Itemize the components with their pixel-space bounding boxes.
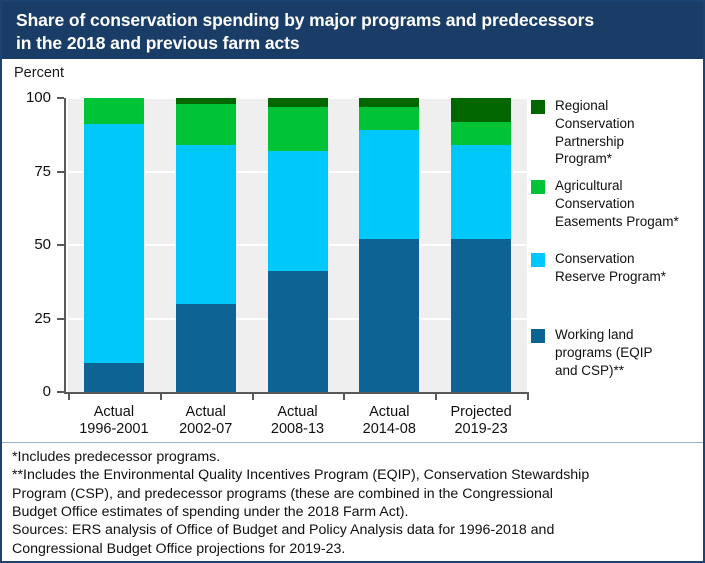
bar-segment — [84, 98, 144, 124]
legend-swatch-icon — [531, 329, 545, 343]
bar-segment — [359, 239, 419, 392]
x-axis-line — [64, 392, 529, 394]
x-tick-label: Actual 2008-13 — [252, 404, 344, 438]
x-tick-mark — [343, 392, 345, 400]
x-tick-label: Actual 1996-2001 — [68, 404, 160, 438]
y-tick-label: 0 — [2, 383, 51, 400]
bar-segment — [176, 98, 236, 104]
y-tick-mark — [57, 244, 64, 246]
y-axis-unit-label: Percent — [14, 65, 64, 81]
chart-title-band: Share of conservation spending by major … — [2, 2, 703, 59]
bar-segment — [359, 107, 419, 131]
y-tick-mark — [57, 171, 64, 173]
legend-label: Regional Conservation Partnership Progra… — [555, 97, 705, 168]
y-tick-mark — [57, 391, 64, 393]
bar-stack — [84, 98, 144, 392]
bar-segment — [451, 98, 511, 122]
x-tick-mark — [160, 392, 162, 400]
bar-segment — [176, 104, 236, 145]
bar-segment — [268, 271, 328, 392]
bar-segment — [176, 304, 236, 392]
bar-segment — [359, 98, 419, 107]
page-title: Share of conservation spending by major … — [16, 9, 693, 55]
note-line: *Includes predecessor programs. — [12, 448, 693, 466]
bar-segment — [176, 145, 236, 304]
bar-segment — [84, 363, 144, 392]
bar-segment — [451, 145, 511, 239]
y-tick-label: 75 — [2, 163, 51, 180]
x-tick-mark — [252, 392, 254, 400]
bar-segment — [451, 239, 511, 392]
legend-swatch-icon — [531, 180, 545, 194]
bar-segment — [451, 122, 511, 146]
x-tick-mark — [435, 392, 437, 400]
bar-stack — [268, 98, 328, 392]
note-line: Sources: ERS analysis of Office of Budge… — [12, 521, 693, 558]
bar-stack — [176, 98, 236, 392]
x-tick-label: Projected 2019-23 — [435, 404, 527, 438]
bar-segment — [268, 107, 328, 151]
y-axis-line — [64, 98, 66, 393]
y-tick-label: 25 — [2, 310, 51, 327]
bar-segment — [268, 98, 328, 107]
chart-figure: Share of conservation spending by major … — [0, 0, 705, 563]
y-tick-mark — [57, 318, 64, 320]
y-tick-mark — [57, 97, 64, 99]
bar-stack — [359, 98, 419, 392]
chart-panel: Percent 0255075100 Actual 1996-2001Actua… — [2, 59, 703, 440]
bar-segment — [84, 124, 144, 362]
chart-notes: *Includes predecessor programs.**Include… — [2, 442, 703, 561]
legend-label: Conservation Reserve Program* — [555, 250, 705, 286]
bar-segment — [268, 151, 328, 272]
chart-legend: Regional Conservation Partnership Progra… — [531, 98, 703, 398]
note-line: **Includes the Environmental Quality Inc… — [12, 466, 693, 521]
x-tick-mark — [527, 392, 529, 400]
legend-label: Working land programs (EQIP and CSP)** — [555, 326, 705, 379]
bar-segment — [359, 130, 419, 239]
y-tick-label: 100 — [2, 89, 51, 106]
x-tick-mark — [68, 392, 70, 400]
legend-label: Agricultural Conservation Easements Prog… — [555, 177, 705, 230]
x-tick-label: Actual 2014-08 — [343, 404, 435, 438]
y-tick-label: 50 — [2, 236, 51, 253]
legend-swatch-icon — [531, 100, 545, 114]
bar-stack — [451, 98, 511, 392]
legend-swatch-icon — [531, 253, 545, 267]
x-tick-label: Actual 2002-07 — [160, 404, 252, 438]
